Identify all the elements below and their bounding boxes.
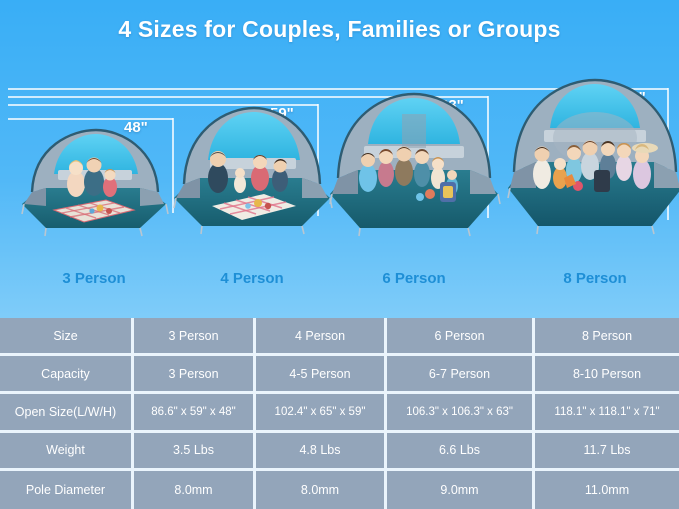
product-caption-6-person: 6 Person [324, 270, 504, 287]
cell: 6 Person [387, 318, 535, 356]
row-label: Size [0, 318, 134, 356]
table-row: Pole Diameter 8.0mm 8.0mm 9.0mm 11.0mm [0, 471, 679, 509]
cell: 6-7 Person [387, 356, 535, 394]
cell: 4.8 Lbs [256, 433, 387, 471]
cell: 3 Person [134, 356, 256, 394]
cell: 8.0mm [256, 471, 387, 509]
cell: 86.6" x 59" x 48" [134, 394, 256, 432]
table-row: Size 3 Person 4 Person 6 Person 8 Person [0, 318, 679, 356]
product-caption-8-person: 8 Person [502, 270, 679, 287]
product-caption-3-person: 3 Person [14, 270, 174, 287]
cell: 106.3" x 106.3" x 63" [387, 394, 535, 432]
cell: 6.6 Lbs [387, 433, 535, 471]
tent-illustration-6-person [324, 90, 504, 250]
table-row: Capacity 3 Person 4-5 Person 6-7 Person … [0, 356, 679, 394]
table-row: Open Size(L/W/H) 86.6" x 59" x 48" 102.4… [0, 394, 679, 432]
cell: 8 Person [535, 318, 679, 356]
cell: 3.5 Lbs [134, 433, 256, 471]
cell: 3 Person [134, 318, 256, 356]
tent-illustration-4-person [168, 102, 336, 248]
cell: 4 Person [256, 318, 387, 356]
tent-comparison-stage: 48" 59" 63" 71" [0, 70, 679, 270]
cell: 118.1" x 118.1" x 71" [535, 394, 679, 432]
cell: 11.0mm [535, 471, 679, 509]
specifications-table: Size 3 Person 4 Person 6 Person 8 Person… [0, 318, 679, 509]
row-label: Weight [0, 433, 134, 471]
row-label: Pole Diameter [0, 471, 134, 509]
table-row: Weight 3.5 Lbs 4.8 Lbs 6.6 Lbs 11.7 Lbs [0, 433, 679, 471]
cell: 102.4" x 65" x 59" [256, 394, 387, 432]
row-label: Capacity [0, 356, 134, 394]
cell: 8.0mm [134, 471, 256, 509]
product-caption-4-person: 4 Person [168, 270, 336, 287]
row-label: Open Size(L/W/H) [0, 394, 134, 432]
cell: 11.7 Lbs [535, 433, 679, 471]
cell: 9.0mm [387, 471, 535, 509]
cell: 8-10 Person [535, 356, 679, 394]
cell: 4-5 Person [256, 356, 387, 394]
tent-illustration-8-person [502, 78, 679, 250]
tent-illustration-3-person [14, 118, 174, 248]
page-title: 4 Sizes for Couples, Families or Groups [0, 16, 679, 43]
